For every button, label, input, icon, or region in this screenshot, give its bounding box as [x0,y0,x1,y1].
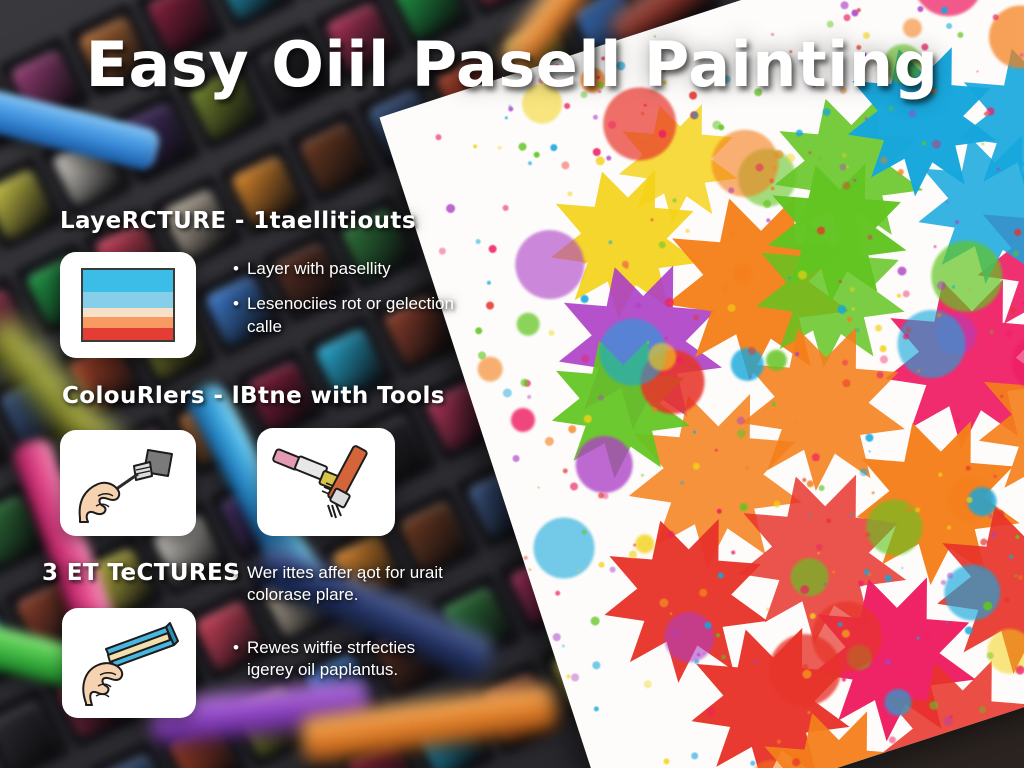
list-item: • Lesenociies rot or gelection calle [233,293,462,338]
section-heading-1: LayeRCTURE - 1taellitiouts [60,208,416,234]
poster-root: Easy Oiil Pasell Painting LayeRCTURE - 1… [0,0,1024,768]
bullet-text: Lesenociies rot or gelection calle [247,293,462,338]
bullet-marker: • [233,562,239,607]
card-color-layers[interactable] [60,252,196,358]
hand-palette-knife-icon [72,440,184,526]
bullet-text: Rewes witfie strfecties igerey oil papla… [247,637,462,682]
section-heading-3: 3 ET TeCTURES [42,560,240,586]
card-scraper[interactable] [62,608,196,718]
list-item: • Layer with pasellity [233,258,462,280]
section-heading-2: ColouRlers - lBtne with Tools [62,383,445,409]
bullet-marker: • [233,258,239,280]
card-palette-knife[interactable] [60,430,196,536]
hand-scraper-icon [74,617,184,709]
list-item: • Rewes witfie strfecties igerey oil pap… [233,637,462,682]
bullet-marker: • [233,637,239,682]
bullet-marker: • [233,293,239,338]
list-item: • Wer ittes affer ąot for urait colorase… [233,562,462,607]
bullet-list-3: • Wer ittes affer ąot for urait colorase… [233,562,462,695]
bullet-list-1: • Layer with pasellity • Lesenociies rot… [233,258,462,351]
bullet-text: Layer with pasellity [247,258,391,280]
page-title: Easy Oiil Pasell Painting [0,28,1024,101]
card-brush-tools[interactable] [257,428,395,536]
two-brushes-icon [268,439,384,525]
bullet-text: Wer ittes affer ąot for urait colorase p… [247,562,462,607]
color-layers-icon [81,268,175,342]
